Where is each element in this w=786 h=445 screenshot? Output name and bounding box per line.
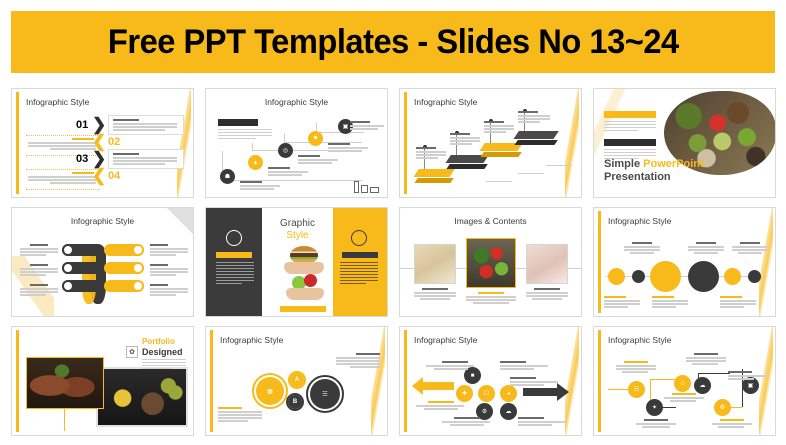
slide-thumbnail-grid: Infographic Style 01 ❯ ❮ 02 03 ❯ (11, 88, 775, 436)
slide-3-caption-1 (486, 181, 512, 184)
slide-6-title-line1: Graphic (280, 218, 315, 229)
slide-2-step-label-5 (350, 121, 384, 131)
slide-1-text-block-4 (28, 172, 98, 185)
slide-thumbnail-2[interactable]: Infographic Style ☗ ▲ ◎ ⚑ ▣ (205, 88, 388, 198)
slide-5-icon-target (62, 244, 74, 256)
slide-10-node-b: B (288, 395, 302, 409)
slide-12-label-1 (616, 361, 656, 374)
slide-8-node-1 (608, 268, 625, 285)
slide-6-cup-icon (351, 230, 367, 246)
header-banner: Free PPT Templates - Slides No 13~24 (11, 11, 775, 73)
slide-5-text-left-2 (20, 264, 58, 277)
slide-1-divider-4 (26, 189, 100, 190)
slide-7-caption-3 (526, 288, 568, 301)
slide-4-badge-1 (604, 111, 656, 118)
slide-4-headline: Simple PowerPoint Presentation (604, 158, 704, 186)
slide-thumbnail-12[interactable]: Infographic Style ☵ ✦ ☃ ☁ ♻ ▣ (593, 326, 776, 436)
slide-5-text-right-3 (150, 284, 188, 297)
slide-11-callout-2 (500, 361, 548, 371)
slide-6-red-apple (304, 274, 317, 287)
slide-8-node-5 (724, 268, 741, 285)
slide-9-title-portfolio: Portfolio (142, 337, 175, 346)
slide-8-caption-top-1 (624, 242, 660, 255)
slide-thumbnail-10[interactable]: Infographic Style ▦ A B ☵ (205, 326, 388, 436)
slide-1-text-card-3 (108, 149, 184, 169)
slide-2-icon-image: ▲ (248, 155, 263, 170)
slide-12-path-1 (608, 389, 630, 390)
slide-1-number-03: 03 (76, 153, 88, 165)
slide-2-icon-target: ◎ (278, 143, 293, 158)
slide-10-caption-top (336, 353, 380, 369)
slide-12-label-4 (686, 353, 726, 366)
yellow-wave-accent-11 (565, 327, 579, 435)
slide-4-headline-highlight: PowerPoint (643, 158, 704, 170)
slide-11-icon-monitor: ☐ (478, 385, 495, 402)
banner-title: Free PPT Templates - Slides No 13~24 (108, 23, 679, 62)
slide-12-node-cloud: ☁ (694, 377, 711, 394)
slide-thumbnail-5[interactable]: Infographic Style (11, 207, 194, 317)
template-gallery-page: Free PPT Templates - Slides No 13~24 Inf… (0, 0, 786, 445)
slide-thumbnail-4[interactable]: Simple PowerPoint Presentation (593, 88, 776, 198)
slide-12-label-6 (728, 371, 768, 381)
yellow-edge-stripe-3 (404, 92, 407, 194)
slide-11-callout-6 (518, 417, 566, 427)
slide-12-node-book: ☵ (628, 381, 645, 398)
slide-2-step-path-3 (284, 133, 362, 143)
slide-thumbnail-1[interactable]: Infographic Style 01 ❯ ❮ 02 03 ❯ (11, 88, 194, 198)
slide-6-hand-2 (286, 288, 324, 300)
slide-8-node-6 (748, 270, 761, 283)
slide-11-icon-tools: ✚ (456, 385, 473, 402)
slide-9-steak-photo[interactable] (26, 357, 104, 409)
slide-1-text-card-1 (108, 115, 184, 135)
slide-8-title: Infographic Style (608, 216, 671, 226)
slide-10-node-grid: ▦ (256, 377, 284, 405)
slide-thumbnail-7[interactable]: Images & Contents (399, 207, 582, 317)
slide-1-divider-2 (26, 155, 100, 156)
slide-7-image-3[interactable] (526, 244, 568, 284)
slide-5-text-left-1 (20, 244, 58, 257)
slide-6-globe-icon (226, 230, 242, 246)
slide-7-caption-2 (466, 292, 516, 305)
slide-8-caption-bottom-3 (720, 296, 756, 309)
yellow-wave-accent-8 (759, 208, 773, 316)
slide-3-label-4 (518, 111, 550, 124)
slide-thumbnail-3[interactable]: Infographic Style (399, 88, 582, 198)
slide-12-title: Infographic Style (608, 335, 671, 345)
slide-11-icon-megaphone: ◂ (500, 385, 517, 402)
slide-7-image-1[interactable] (414, 244, 456, 284)
slide-7-title: Images & Contents (400, 216, 581, 226)
slide-4-badge-2 (604, 139, 656, 146)
slide-1-divider-3 (26, 169, 100, 170)
slide-2-callout-badge (218, 119, 258, 126)
slide-6-left-badge (216, 252, 252, 258)
slide-thumbnail-8[interactable]: Infographic Style (593, 207, 776, 317)
slide-4-badge-1-text (604, 121, 656, 133)
yellow-wave-accent-10 (371, 327, 385, 435)
slide-1-number-02: 02 (108, 136, 120, 148)
slide-1-divider-1 (26, 135, 100, 136)
slide-10-node-a: A (290, 373, 304, 387)
slide-11-icon-cloud: ☁ (500, 403, 517, 420)
slide-5-icon-monitor (62, 280, 74, 292)
slide-1-number-04: 04 (108, 170, 120, 182)
slide-5-icon-bag (132, 244, 144, 256)
slide-10-caption-bottom (218, 407, 262, 423)
slide-10-title: Infographic Style (220, 335, 283, 345)
slide-4-headline-part1: Simple (604, 158, 640, 170)
slide-3-label-1 (416, 147, 446, 160)
chevron-right-icon: ❯ (92, 116, 106, 133)
slide-9-plated-dish-photo[interactable] (96, 367, 188, 427)
slide-11-left-arrow (412, 377, 454, 395)
yellow-edge-stripe (16, 92, 19, 194)
slide-11-callout-4 (416, 401, 464, 411)
slide-9-leaf-icon: ✿ (126, 346, 138, 358)
slide-12-node-star: ✦ (646, 399, 663, 416)
slide-5-text-right-2 (150, 264, 188, 277)
slide-1-number-01: 01 (76, 119, 88, 131)
slide-3-label-2 (450, 133, 480, 146)
yellow-wave-accent (177, 89, 191, 197)
slide-9-title-designed: Designed (142, 347, 183, 357)
chevron-right-icon-2: ❯ (92, 150, 106, 167)
slide-4-headline-part2: Presentation (604, 171, 671, 183)
slide-8-node-2 (632, 270, 645, 283)
slide-8-node-4 (688, 261, 719, 292)
slide-2-step-label-2 (268, 167, 308, 177)
slide-thumbnail-9[interactable]: Portfolio Designed ✿ (11, 326, 194, 436)
slide-6-center-title: Graphic Style (264, 218, 331, 241)
slide-1-title: Infographic Style (26, 97, 89, 107)
slide-2-step-label-3 (298, 155, 338, 165)
slide-5-text-right-1 (150, 244, 188, 257)
slide-5-icon-pen (132, 280, 144, 292)
slide-12-label-2 (636, 419, 676, 429)
slide-2-callout-text (218, 129, 272, 141)
slide-11-callout-1 (426, 361, 474, 371)
slide-6-bottom-button[interactable] (280, 306, 326, 312)
slide-7-caption-1 (414, 288, 456, 301)
slide-5-icon-clock (132, 262, 144, 274)
slide-thumbnail-6[interactable]: Graphic Style (205, 207, 388, 317)
slide-2-step-label-1 (240, 181, 280, 191)
yellow-edge-stripe-10 (210, 330, 213, 432)
slide-3-caption-2 (518, 173, 544, 176)
slide-9-body-text (142, 359, 186, 371)
slide-12-label-3 (664, 393, 704, 403)
yellow-edge-stripe-8 (598, 211, 601, 313)
slide-8-node-3 (650, 261, 681, 292)
yellow-edge-stripe-9 (16, 330, 19, 432)
slide-5-icon-user (62, 262, 74, 274)
slide-11-callout-5 (442, 417, 490, 427)
slide-3-platform-4 (516, 131, 556, 145)
yellow-edge-stripe-12 (598, 330, 601, 432)
chevron-left-icon-2: ❮ (92, 167, 106, 184)
slide-6-right-text (340, 262, 378, 286)
slide-3-label-3 (484, 121, 514, 134)
slide-5-title: Infographic Style (12, 216, 193, 226)
slide-2-title: Infographic Style (206, 97, 387, 107)
slide-3-title: Infographic Style (414, 97, 477, 107)
slide-12-node-cup: ☃ (674, 375, 691, 392)
slide-2-step-label-4 (328, 143, 368, 153)
slide-3-caption-3 (546, 165, 572, 168)
slide-6-hand-1 (284, 262, 324, 274)
slide-12-node-recycle: ♻ (714, 399, 731, 416)
slide-5-text-left-3 (20, 284, 58, 297)
slide-8-caption-top-3 (732, 242, 768, 255)
slide-8-caption-top-2 (688, 242, 724, 255)
slide-thumbnail-11[interactable]: Infographic Style ■ ✚ ☐ ◂ ⚙ ☁ (399, 326, 582, 436)
slide-12-label-5 (712, 419, 752, 429)
slide-9-connector (64, 409, 65, 431)
slide-2-device-icons (354, 181, 379, 193)
slide-6-title-line2: Style (286, 230, 308, 241)
slide-2-icon-bank: ☗ (220, 169, 235, 184)
slide-2-icon-flag: ⚑ (308, 131, 323, 146)
slide-7-image-2[interactable] (466, 238, 516, 288)
yellow-edge-stripe-11 (404, 330, 407, 432)
slide-11-title: Infographic Style (414, 335, 477, 345)
yellow-wave-accent-3 (565, 89, 579, 197)
slide-8-caption-bottom-1 (604, 296, 640, 309)
slide-6-left-text (216, 262, 254, 286)
slide-3-platform-1 (416, 169, 452, 183)
slide-10-node-book: ☵ (310, 379, 340, 409)
chevron-left-icon: ❮ (92, 133, 106, 150)
slide-8-caption-bottom-2 (652, 296, 688, 309)
slide-12-path-6 (698, 373, 730, 374)
slide-12-path-3 (650, 379, 676, 380)
slide-1-text-block-2 (28, 138, 98, 151)
slide-6-right-badge (342, 252, 378, 258)
slide-11-callout-3 (510, 377, 558, 387)
